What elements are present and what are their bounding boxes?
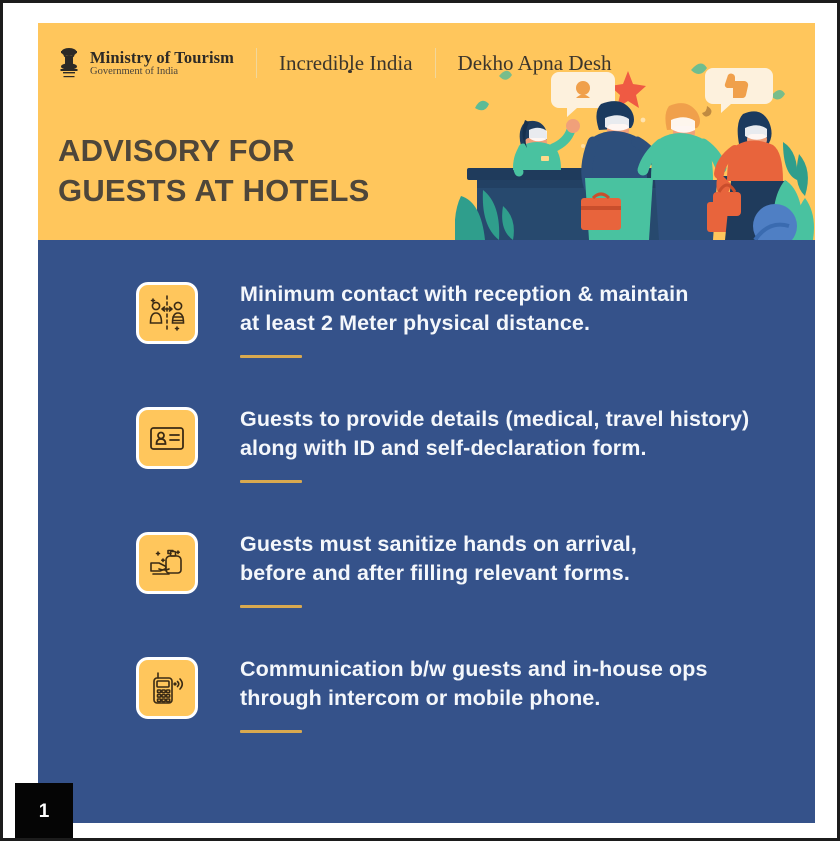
advisory-rule: [240, 480, 302, 483]
poster-page: Ministry of Tourism Government of India …: [0, 0, 840, 841]
ministry-logo: Ministry of Tourism Government of India: [56, 45, 234, 81]
advisory-rule: [240, 355, 302, 358]
advisory-content: Communication b/w guests and in-house op…: [240, 653, 708, 733]
brand-dekho-apna-desh: Dekho Apna Desh: [458, 51, 612, 76]
poster-header: Ministry of Tourism Government of India …: [38, 23, 815, 240]
brand-incredible-india: Incredible India: [279, 51, 413, 76]
advisory-item: Guests to provide details (medical, trav…: [136, 403, 795, 528]
advisory-item: Minimum contact with reception & maintai…: [136, 278, 795, 403]
brand-bar: Ministry of Tourism Government of India …: [56, 45, 612, 81]
page-number-badge: 1: [15, 783, 73, 841]
poster-body: Minimum contact with reception & maintai…: [38, 240, 815, 823]
advisory-text: Guests to provide details (medical, trav…: [240, 405, 749, 462]
page-number: 1: [39, 801, 50, 823]
brand-divider-2: [435, 48, 436, 78]
ministry-name: Ministry of Tourism: [90, 49, 234, 66]
hand-sanitizer-icon: [136, 532, 198, 594]
advisory-poster: Ministry of Tourism Government of India …: [38, 23, 815, 823]
ashoka-emblem-icon: [56, 45, 82, 81]
ministry-subtitle: Government of India: [90, 66, 234, 77]
advisory-text: Minimum contact with reception & maintai…: [240, 280, 688, 337]
advisory-item: Guests must sanitize hands on arrival, b…: [136, 528, 795, 653]
social-distancing-icon: [136, 282, 198, 344]
advisory-text: Communication b/w guests and in-house op…: [240, 655, 708, 712]
advisory-list: Minimum contact with reception & maintai…: [136, 278, 795, 778]
brand-divider-1: [256, 48, 257, 78]
headline-line-1: ADVISORY FOR: [58, 131, 370, 171]
advisory-text: Guests must sanitize hands on arrival, b…: [240, 530, 637, 587]
page-title: ADVISORY FOR GUESTS AT HOTELS: [58, 131, 370, 210]
cordless-phone-icon: [136, 657, 198, 719]
advisory-item: Communication b/w guests and in-house op…: [136, 653, 795, 778]
id-card-icon: [136, 407, 198, 469]
advisory-rule: [240, 605, 302, 608]
advisory-content: Guests to provide details (medical, trav…: [240, 403, 749, 483]
incredible-india-dot-icon: [348, 70, 352, 74]
advisory-rule: [240, 730, 302, 733]
advisory-content: Guests must sanitize hands on arrival, b…: [240, 528, 637, 608]
headline-line-2: GUESTS AT HOTELS: [58, 171, 370, 211]
advisory-content: Minimum contact with reception & maintai…: [240, 278, 688, 358]
